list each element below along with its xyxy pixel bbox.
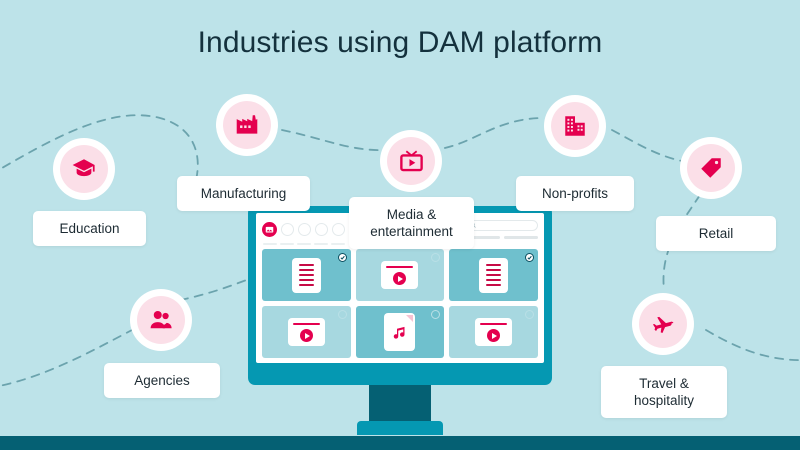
asset-select-toggle[interactable]: [525, 310, 534, 319]
agencies-bubble[interactable]: [130, 289, 192, 351]
toolbar-filter-2[interactable]: [298, 223, 311, 236]
search-meta-rows: [466, 236, 538, 239]
retail-bubble[interactable]: [680, 137, 742, 199]
asset-select-toggle[interactable]: [431, 253, 440, 262]
agencies-label[interactable]: Agencies: [104, 363, 220, 398]
nonprofits-label[interactable]: Non-profits: [516, 176, 634, 211]
document-asset-icon: [294, 260, 319, 291]
asset-card-audio-center[interactable]: [356, 306, 445, 358]
play-icon: [393, 272, 406, 285]
education-bubble[interactable]: [53, 138, 115, 200]
asset-selected-check[interactable]: [338, 253, 347, 262]
toolbar-filter-3[interactable]: [315, 223, 328, 236]
manufacturing-bubble[interactable]: [216, 94, 278, 156]
television-icon: [398, 148, 425, 175]
media-bubble[interactable]: [380, 130, 442, 192]
image-asset-icon[interactable]: [262, 222, 277, 237]
infographic-canvas: Industries using DAM platform: [0, 0, 800, 450]
play-icon: [300, 329, 313, 342]
travel-bubble[interactable]: [632, 293, 694, 355]
play-icon: [487, 329, 500, 342]
asset-card-video-bottom-right[interactable]: [449, 306, 538, 358]
document-asset-icon: [481, 260, 506, 291]
asset-card-document-right[interactable]: [449, 249, 538, 301]
asset-card-video-center[interactable]: [356, 249, 445, 301]
people-group-icon: [148, 307, 174, 333]
airplane-icon: [650, 311, 676, 337]
toolbar-filter-group: [262, 222, 345, 237]
graduation-cap-icon: [71, 156, 97, 182]
video-asset-icon: [383, 263, 416, 287]
asset-card-document-left[interactable]: [262, 249, 351, 301]
search-input[interactable]: [466, 220, 538, 231]
toolbar-filter-1[interactable]: [281, 223, 294, 236]
monitor-foot: [357, 421, 443, 435]
video-asset-icon: [477, 320, 510, 344]
asset-selected-check[interactable]: [525, 253, 534, 262]
retail-label[interactable]: Retail: [656, 216, 776, 251]
asset-grid: [262, 249, 538, 358]
asset-card-video-bottom-left[interactable]: [262, 306, 351, 358]
price-tag-icon: [698, 155, 724, 181]
education-label[interactable]: Education: [33, 211, 146, 246]
asset-select-toggle[interactable]: [431, 310, 440, 319]
toolbar-filter-4[interactable]: [332, 223, 345, 236]
media-label[interactable]: Media & entertainment: [349, 197, 474, 249]
monitor-neck: [369, 385, 431, 421]
travel-label[interactable]: Travel & hospitality: [601, 366, 727, 418]
audio-asset-icon: [386, 315, 413, 349]
asset-select-toggle[interactable]: [338, 310, 347, 319]
nonprofits-bubble[interactable]: [544, 95, 606, 157]
toolbar-search-area: [466, 220, 538, 239]
factory-icon: [234, 112, 260, 138]
ground-bar: [0, 436, 800, 450]
manufacturing-label[interactable]: Manufacturing: [177, 176, 310, 211]
video-asset-icon: [290, 320, 323, 344]
office-building-icon: [562, 113, 588, 139]
